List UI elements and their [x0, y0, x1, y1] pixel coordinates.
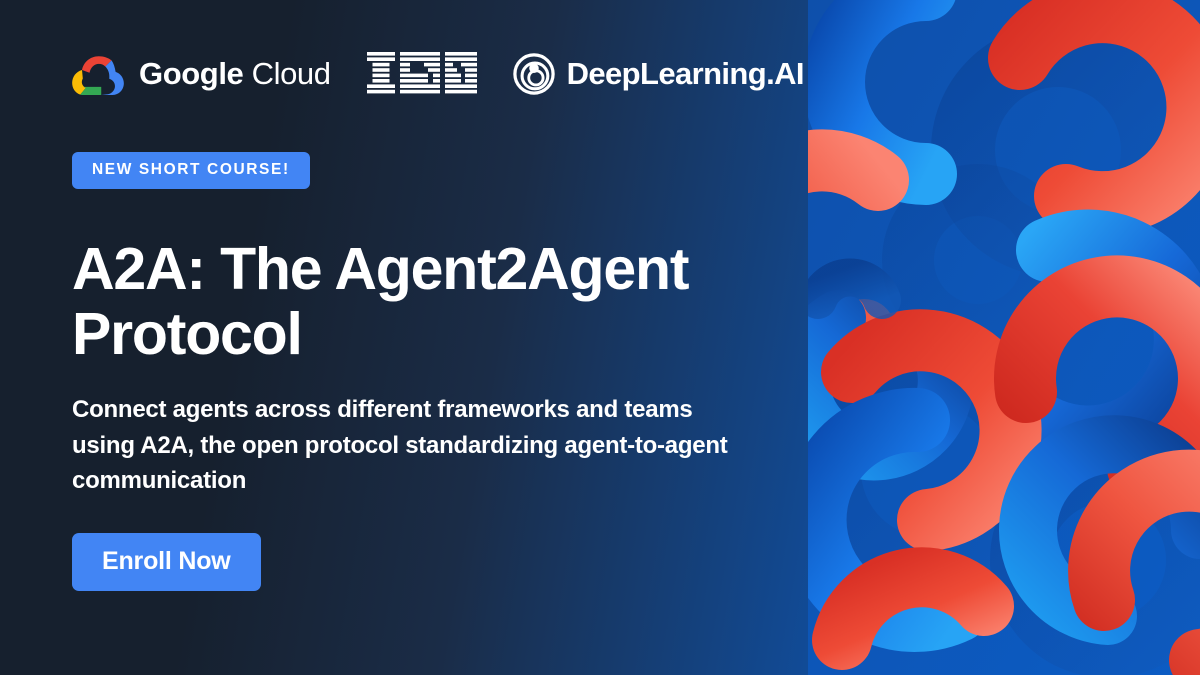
deeplearning-ai-icon: [513, 53, 555, 95]
promo-banner: Google Cloud: [0, 0, 1200, 675]
page-title: A2A: The Agent2Agent Protocol: [72, 237, 772, 368]
deeplearning-ai-logo: DeepLearning.AI: [513, 53, 804, 95]
google-cloud-icon: [72, 53, 124, 95]
ibm-logo: [367, 52, 477, 96]
abstract-arc-pattern: [808, 0, 1200, 675]
ibm-logo-icon: [367, 52, 477, 96]
enroll-now-button[interactable]: Enroll Now: [72, 533, 261, 591]
banner-content: Google Cloud: [72, 0, 832, 675]
google-word: Google: [139, 56, 243, 91]
new-short-course-badge: NEW SHORT COURSE!: [72, 152, 310, 189]
cloud-word: Cloud: [252, 56, 331, 91]
google-cloud-logo: Google Cloud: [72, 53, 331, 95]
partner-logo-row: Google Cloud: [72, 52, 804, 96]
google-cloud-wordmark: Google Cloud: [139, 56, 331, 92]
hero-subtitle: Connect agents across different framewor…: [72, 392, 744, 499]
deeplearning-ai-wordmark: DeepLearning.AI: [567, 56, 804, 92]
